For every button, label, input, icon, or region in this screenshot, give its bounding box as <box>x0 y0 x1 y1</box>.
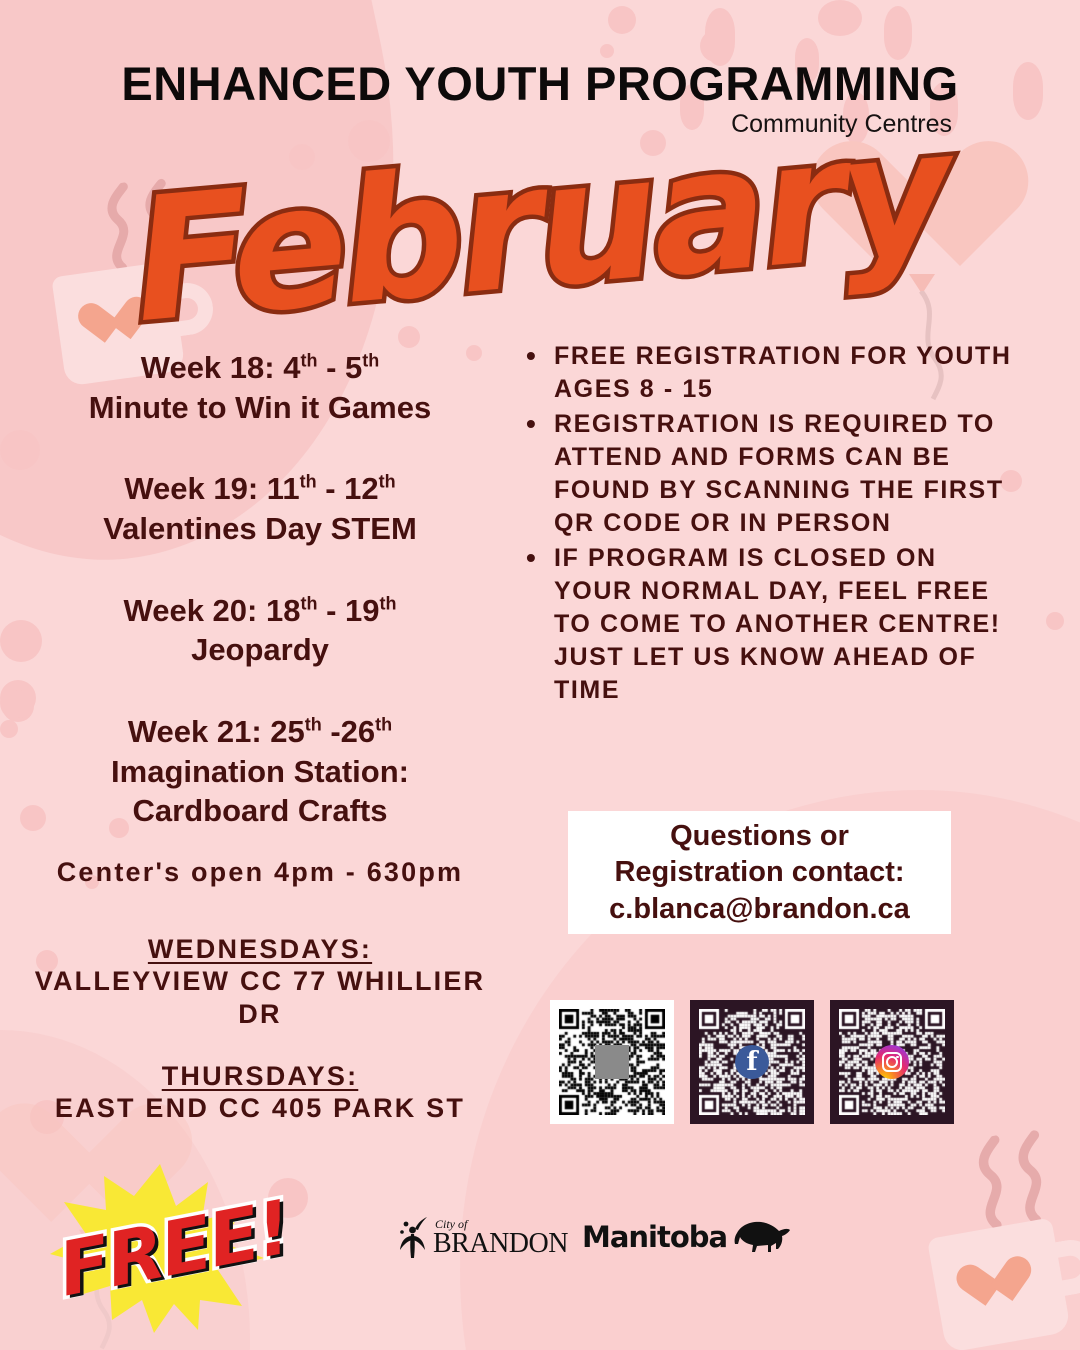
confetti-dot <box>608 6 636 34</box>
location-thursday: THURSDAYS: EAST END CC 405 PARK ST <box>30 1061 490 1125</box>
schedule-activity: Valentines Day STEM <box>30 509 490 549</box>
confetti-dot <box>1046 612 1064 630</box>
schedule-item: Week 20: 18th - 19th Jeopardy <box>30 591 490 670</box>
registration-form-qr[interactable] <box>550 1000 674 1124</box>
schedule-dates: Week 21: 25th -26th <box>30 712 490 752</box>
poster-canvas: ENHANCED YOUTH PROGRAMMING Community Cen… <box>0 0 1080 1350</box>
contact-line-2: Registration contact: <box>614 854 904 890</box>
manitoba-label: Manitoba <box>582 1220 727 1254</box>
schedule-dates: Week 18: 4th - 5th <box>30 348 490 388</box>
location-day-label: WEDNESDAYS: <box>30 934 490 965</box>
location-day-label: THURSDAYS: <box>30 1061 490 1092</box>
schedule-activity: Minute to Win it Games <box>30 388 490 428</box>
instagram-icon <box>875 1045 909 1079</box>
schedule-item: Week 21: 25th -26th Imagination Station:… <box>30 712 490 831</box>
confetti-dot <box>884 6 912 60</box>
info-bullet-list: FREE REGISTRATION FOR YOUTH AGES 8 - 15 … <box>520 340 1020 707</box>
brandon-name-label: BRANDON <box>433 1230 568 1258</box>
contact-box: Questions or Registration contact: c.bla… <box>568 811 951 934</box>
free-badge: FREE! <box>42 1158 272 1333</box>
schedule-column: Week 18: 4th - 5th Minute to Win it Game… <box>30 348 490 1155</box>
opening-hours: Center's open 4pm - 630pm <box>30 857 490 888</box>
schedule-item: Week 18: 4th - 5th Minute to Win it Game… <box>30 348 490 427</box>
schedule-dates: Week 19: 11th - 12th <box>30 469 490 509</box>
contact-line-1: Questions or <box>670 818 849 854</box>
info-column: FREE REGISTRATION FOR YOUTH AGES 8 - 15 … <box>520 340 1020 709</box>
month-wordmark: February <box>0 91 1080 363</box>
instagram-qr[interactable] <box>830 1000 954 1124</box>
manitoba-logo: Manitoba <box>582 1219 791 1255</box>
footer-logos: City of BRANDON Manitoba <box>398 1216 791 1258</box>
facebook-icon: f <box>735 1045 769 1079</box>
schedule-activity: Jeopardy <box>30 630 490 670</box>
facebook-qr[interactable]: f <box>690 1000 814 1124</box>
qr-code-row: f <box>550 1000 954 1124</box>
list-item: FREE REGISTRATION FOR YOUTH AGES 8 - 15 <box>520 340 1020 406</box>
document-icon <box>595 1045 629 1079</box>
confetti-dot <box>818 0 862 36</box>
schedule-activity: Imagination Station: Cardboard Crafts <box>30 752 490 831</box>
confetti-dot <box>0 686 34 720</box>
brandon-figure-icon <box>398 1216 428 1258</box>
location-address: VALLEYVIEW CC 77 WHILLIER DR <box>30 965 490 1031</box>
confetti-dot <box>0 720 18 738</box>
confetti-dot <box>5 690 33 718</box>
schedule-item: Week 19: 11th - 12th Valentines Day STEM <box>30 469 490 548</box>
location-address: EAST END CC 405 PARK ST <box>30 1092 490 1125</box>
list-item: REGISTRATION IS REQUIRED TO ATTEND AND F… <box>520 408 1020 540</box>
schedule-dates: Week 20: 18th - 19th <box>30 591 490 631</box>
brandon-wordmark: City of BRANDON <box>433 1218 568 1258</box>
bison-icon <box>733 1219 791 1255</box>
list-item: IF PROGRAM IS CLOSED ON YOUR NORMAL DAY,… <box>520 542 1020 707</box>
location-wednesday: WEDNESDAYS: VALLEYVIEW CC 77 WHILLIER DR <box>30 934 490 1031</box>
contact-email: c.blanca@brandon.ca <box>609 891 910 927</box>
steam-icon <box>957 1120 1080 1235</box>
city-of-brandon-logo: City of BRANDON <box>398 1216 568 1258</box>
